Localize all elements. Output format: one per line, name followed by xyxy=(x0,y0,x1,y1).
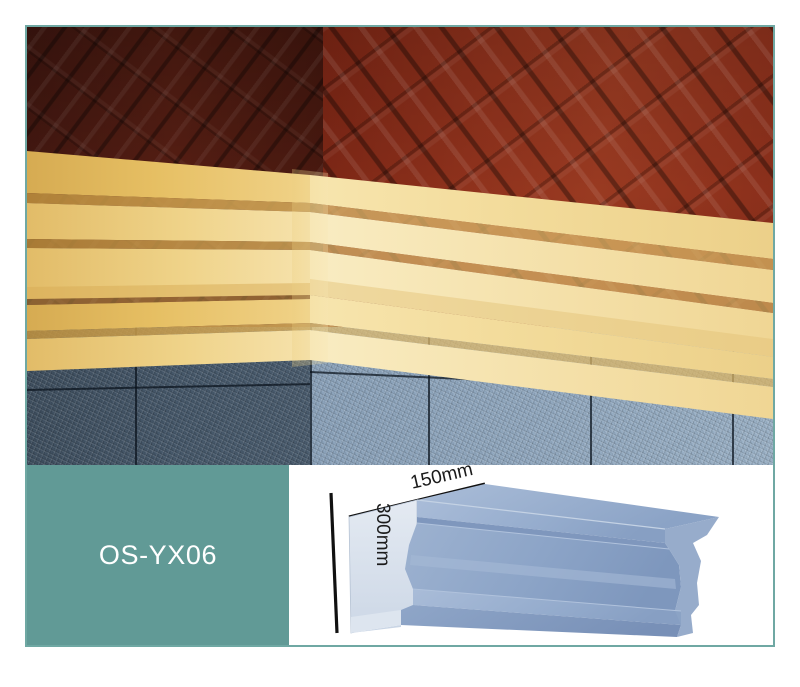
wall-seam-vertical xyxy=(732,327,734,465)
wall-texture-left xyxy=(27,327,310,465)
roof-area xyxy=(27,27,773,327)
wall-seam-vertical xyxy=(428,327,430,465)
roof-tile-texture-right xyxy=(323,27,773,327)
wall-seam-corner xyxy=(310,327,312,465)
wall-face-left xyxy=(27,327,310,465)
roof-tile-texture-left xyxy=(27,27,323,327)
cornice-profile-drawing xyxy=(289,465,773,645)
wall-face-right xyxy=(310,327,773,465)
product-photo xyxy=(27,27,773,465)
roof-slope-left xyxy=(27,27,323,327)
wall-area xyxy=(27,327,773,465)
wall-seam-vertical xyxy=(135,327,137,465)
wall-seam-vertical xyxy=(590,327,592,465)
spec-drawing-panel: 150mm 300mm xyxy=(289,465,773,645)
height-dimension-label: 300mm xyxy=(371,503,393,566)
product-code-label: OS-YX06 xyxy=(99,540,217,571)
product-code-panel: OS-YX06 xyxy=(27,465,289,645)
info-row: OS-YX06 xyxy=(27,465,773,645)
dimension-line-height xyxy=(331,493,337,633)
roof-slope-right xyxy=(323,27,773,327)
product-card: OS-YX06 xyxy=(25,25,775,647)
wall-texture-right xyxy=(310,327,773,465)
